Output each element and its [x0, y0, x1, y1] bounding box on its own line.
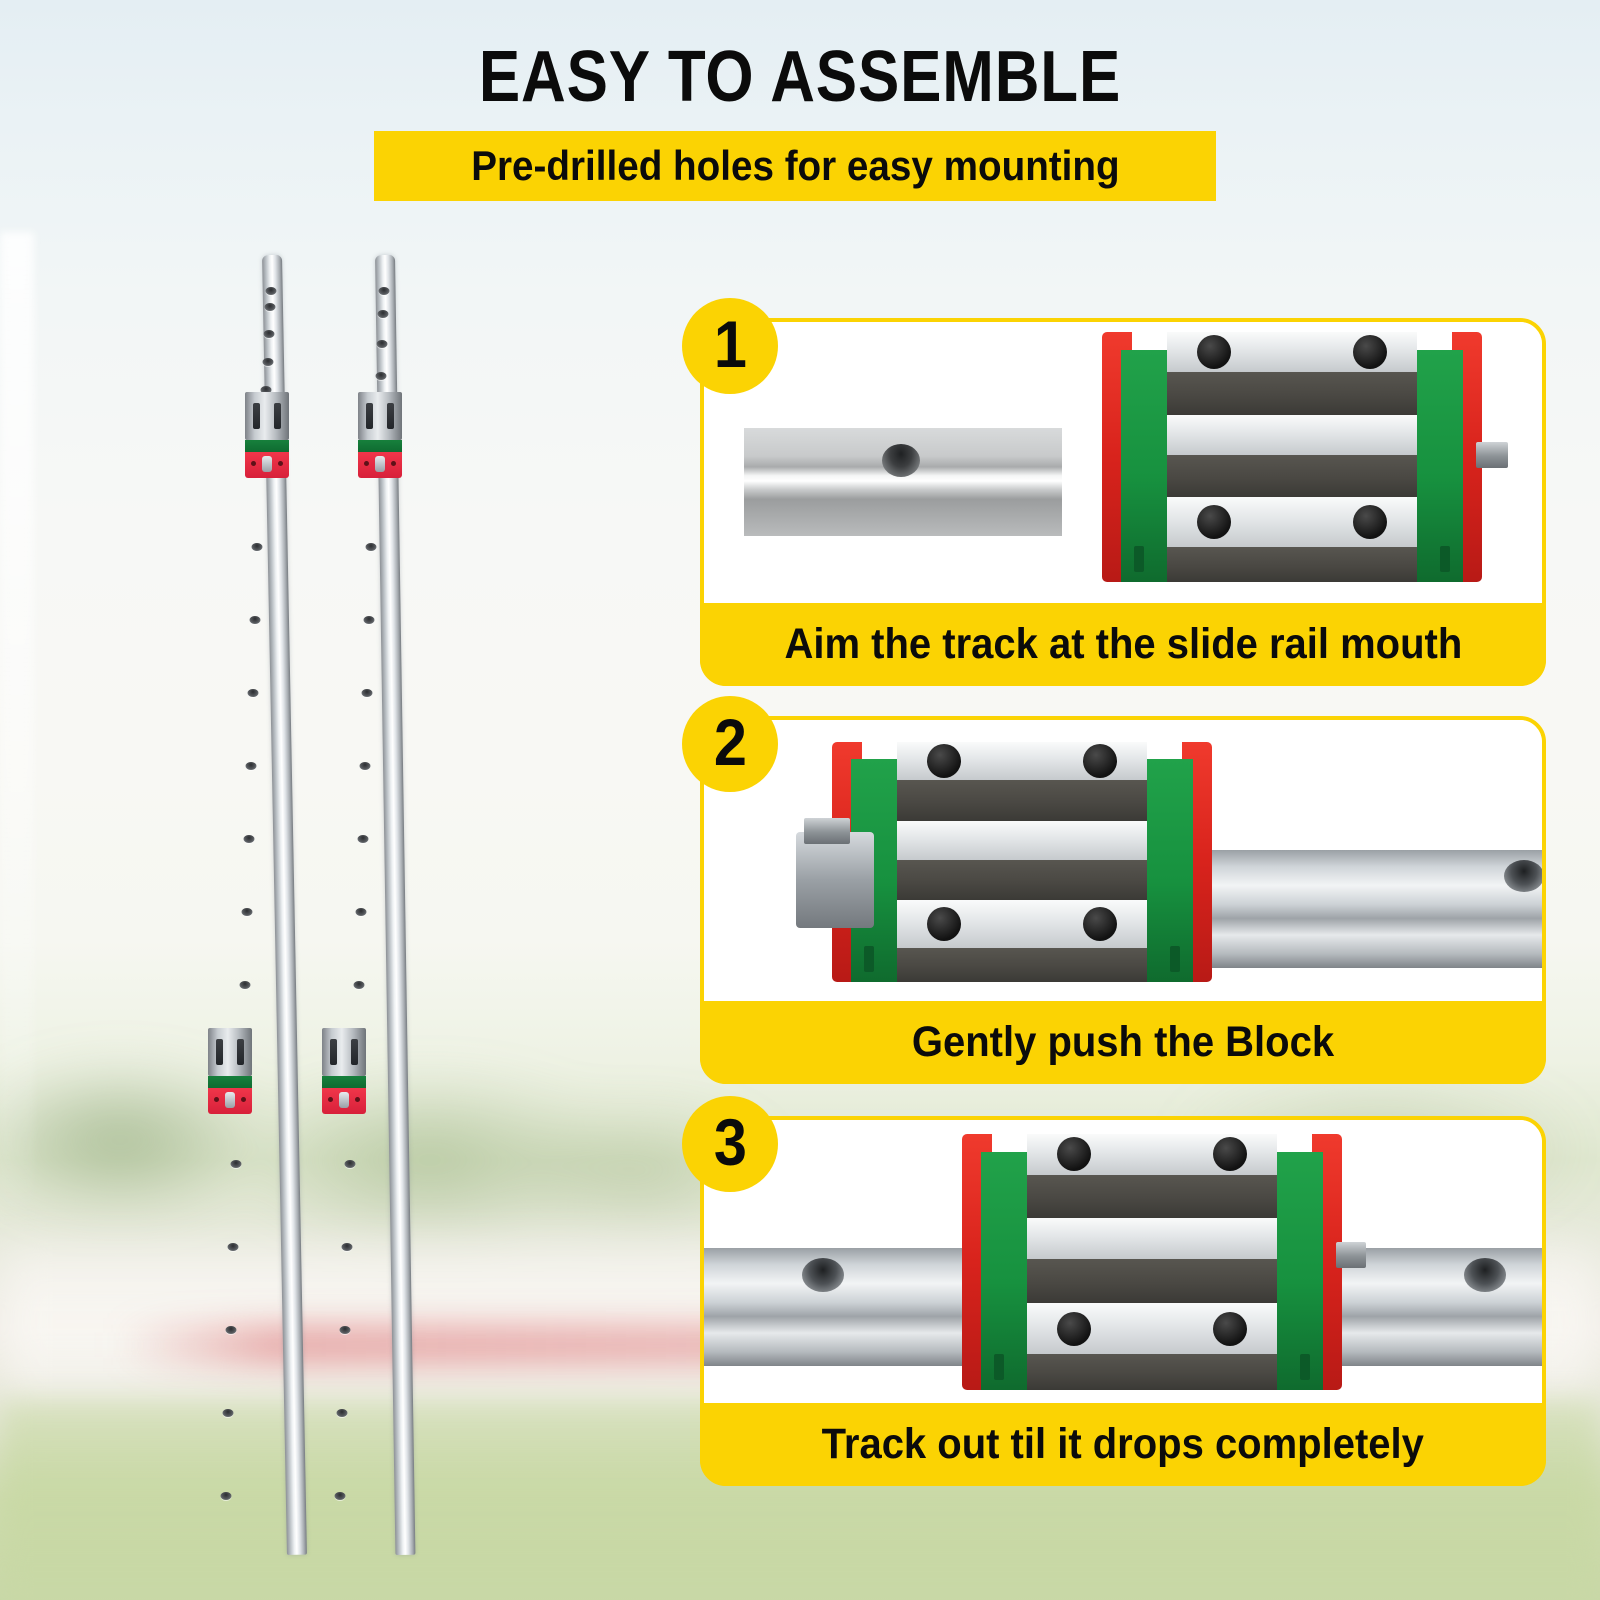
- carriage-green-cap: [358, 440, 402, 452]
- block-dark-band: [897, 780, 1148, 821]
- block-core: [897, 742, 1148, 982]
- block-base-band: [897, 948, 1148, 982]
- rail-hole: [221, 1492, 232, 1500]
- step-caption-text-2: Gently push the Block: [912, 1018, 1334, 1067]
- step-badge-3: 3: [682, 1096, 778, 1192]
- step-panel-2[interactable]: 2 Gently push the Block: [700, 716, 1546, 1084]
- carriage-bolt: [328, 1097, 333, 1102]
- step-panel-3[interactable]: 3 Track out til it drops completely: [700, 1116, 1546, 1486]
- carriage-bolt: [355, 1097, 360, 1102]
- rail-hole: [231, 1160, 242, 1168]
- carriage-body: [208, 1028, 252, 1076]
- carriage-bolt: [278, 461, 283, 466]
- block-rail-stub-left-top: [804, 818, 850, 844]
- block-bolt: [1083, 907, 1117, 941]
- bearing-block: [832, 742, 1212, 982]
- carriage-green-cap: [322, 1076, 366, 1088]
- block-base-band: [1027, 1354, 1278, 1390]
- block-foot: [994, 1354, 1004, 1380]
- block-foot: [1170, 946, 1180, 972]
- carriage-red-cap: [358, 452, 402, 478]
- rail-hole: [263, 358, 274, 366]
- rail-hole: [266, 287, 277, 295]
- rail-hole: [378, 310, 389, 318]
- block-dark-band: [897, 860, 1148, 901]
- rail-hole: [345, 1160, 356, 1168]
- block-rail-stub-right: [1336, 1242, 1366, 1268]
- carriage-block: [245, 392, 289, 478]
- block-bottom-plate: [1167, 497, 1418, 547]
- carriage-red-cap: [245, 452, 289, 478]
- rail-hole: [228, 1243, 239, 1251]
- carriage-bolt: [241, 1097, 246, 1102]
- rail-hole: [335, 1492, 346, 1500]
- carriage-bolt: [364, 461, 369, 466]
- step-caption-1: Aim the track at the slide rail mouth: [700, 603, 1546, 686]
- rail-hole: [265, 303, 276, 311]
- rail-hole: [264, 330, 275, 338]
- carriage-bolt: [391, 461, 396, 466]
- carriage-green-cap: [245, 440, 289, 452]
- carriage-red-cap: [322, 1088, 366, 1114]
- rail-hole: [379, 287, 390, 295]
- block-bolt: [1057, 1137, 1091, 1171]
- block-mid-plate: [1027, 1218, 1278, 1259]
- rail-hole: [223, 1409, 234, 1417]
- block-bolt: [927, 907, 961, 941]
- block-dark-band: [1027, 1175, 1278, 1219]
- rail-hole: [377, 340, 388, 348]
- step-photo-3: [704, 1120, 1542, 1407]
- step-number-1: 1: [713, 306, 746, 382]
- block-bottom-plate: [897, 900, 1148, 948]
- block-dark-band: [1167, 372, 1418, 415]
- rail-hole: [242, 908, 253, 916]
- carriage-block: [322, 1028, 366, 1114]
- block-mid-plate: [1167, 415, 1418, 455]
- carriage-red-cap: [208, 1088, 252, 1114]
- block-foot: [1134, 546, 1144, 572]
- carriage-body: [358, 392, 402, 440]
- rail-mounting-hole: [1464, 1258, 1506, 1292]
- block-bolt: [1197, 335, 1231, 369]
- block-bolt: [1213, 1137, 1247, 1171]
- bearing-block: [962, 1134, 1342, 1390]
- block-top-plate: [1167, 332, 1418, 372]
- bearing-block: [1102, 332, 1482, 582]
- rail-hole: [226, 1326, 237, 1334]
- block-core: [1167, 332, 1418, 582]
- block-dark-band: [1167, 455, 1418, 498]
- block-foot: [1300, 1354, 1310, 1380]
- block-bolt: [1213, 1312, 1247, 1346]
- carriage-bolt: [214, 1097, 219, 1102]
- rail-hole: [358, 835, 369, 843]
- rail-hole: [244, 835, 255, 843]
- step-caption-2: Gently push the Block: [700, 1001, 1546, 1084]
- step-panel-1[interactable]: 1 Aim the track at the slide rail mouth: [700, 318, 1546, 686]
- block-mid-plate: [897, 821, 1148, 859]
- block-rail-stub-left: [796, 832, 874, 928]
- step-caption-text-1: Aim the track at the slide rail mouth: [784, 620, 1462, 669]
- rail-hole: [366, 543, 377, 551]
- rail-hole: [252, 543, 263, 551]
- rail-hole: [364, 616, 375, 624]
- block-dark-band: [1027, 1259, 1278, 1303]
- block-bolt: [1353, 335, 1387, 369]
- step-number-3: 3: [713, 1104, 746, 1180]
- block-bolt: [1353, 505, 1387, 539]
- rail-mounting-hole: [802, 1258, 844, 1292]
- step-badge-1: 1: [682, 298, 778, 394]
- block-bolt: [1083, 744, 1117, 778]
- step-caption-3: Track out til it drops completely: [700, 1403, 1546, 1486]
- block-base-band: [1167, 547, 1418, 582]
- block-bolt: [1197, 505, 1231, 539]
- rail-hole: [240, 981, 251, 989]
- carriage-block: [358, 392, 402, 478]
- block-top-plate: [1027, 1134, 1278, 1175]
- step-badge-2: 2: [682, 696, 778, 792]
- carriage-body: [245, 392, 289, 440]
- block-bolt: [927, 744, 961, 778]
- step-caption-text-3: Track out til it drops completely: [822, 1420, 1424, 1469]
- carriage-block: [208, 1028, 252, 1114]
- rail-hole: [376, 372, 387, 380]
- block-foot: [1440, 546, 1450, 572]
- rail-hole: [340, 1326, 351, 1334]
- product-rails: [0, 0, 660, 1600]
- rail-mounting-hole: [882, 444, 920, 477]
- guide-rail: [1164, 850, 1542, 968]
- step-photo-2: [704, 720, 1542, 1005]
- carriage-body: [322, 1028, 366, 1076]
- rail-hole: [248, 689, 259, 697]
- block-rail-stub-right: [1476, 442, 1508, 468]
- rail-hole: [342, 1243, 353, 1251]
- rail-hole: [246, 762, 257, 770]
- block-bolt: [1057, 1312, 1091, 1346]
- step-photo-1: [704, 322, 1542, 607]
- block-top-plate: [897, 742, 1148, 780]
- block-core: [1027, 1134, 1278, 1390]
- carriage-bolt: [251, 461, 256, 466]
- block-bottom-plate: [1027, 1303, 1278, 1354]
- rail-hole: [250, 616, 261, 624]
- infographic-canvas: EASY TO ASSEMBLE Pre-drilled holes for e…: [0, 0, 1600, 1600]
- block-foot: [864, 946, 874, 972]
- rail-mounting-hole: [1504, 860, 1542, 892]
- rail-hole: [360, 762, 371, 770]
- rail-hole: [362, 689, 373, 697]
- rail-hole: [337, 1409, 348, 1417]
- carriage-green-cap: [208, 1076, 252, 1088]
- rail-hole: [354, 981, 365, 989]
- rail-hole: [356, 908, 367, 916]
- step-number-2: 2: [713, 704, 746, 780]
